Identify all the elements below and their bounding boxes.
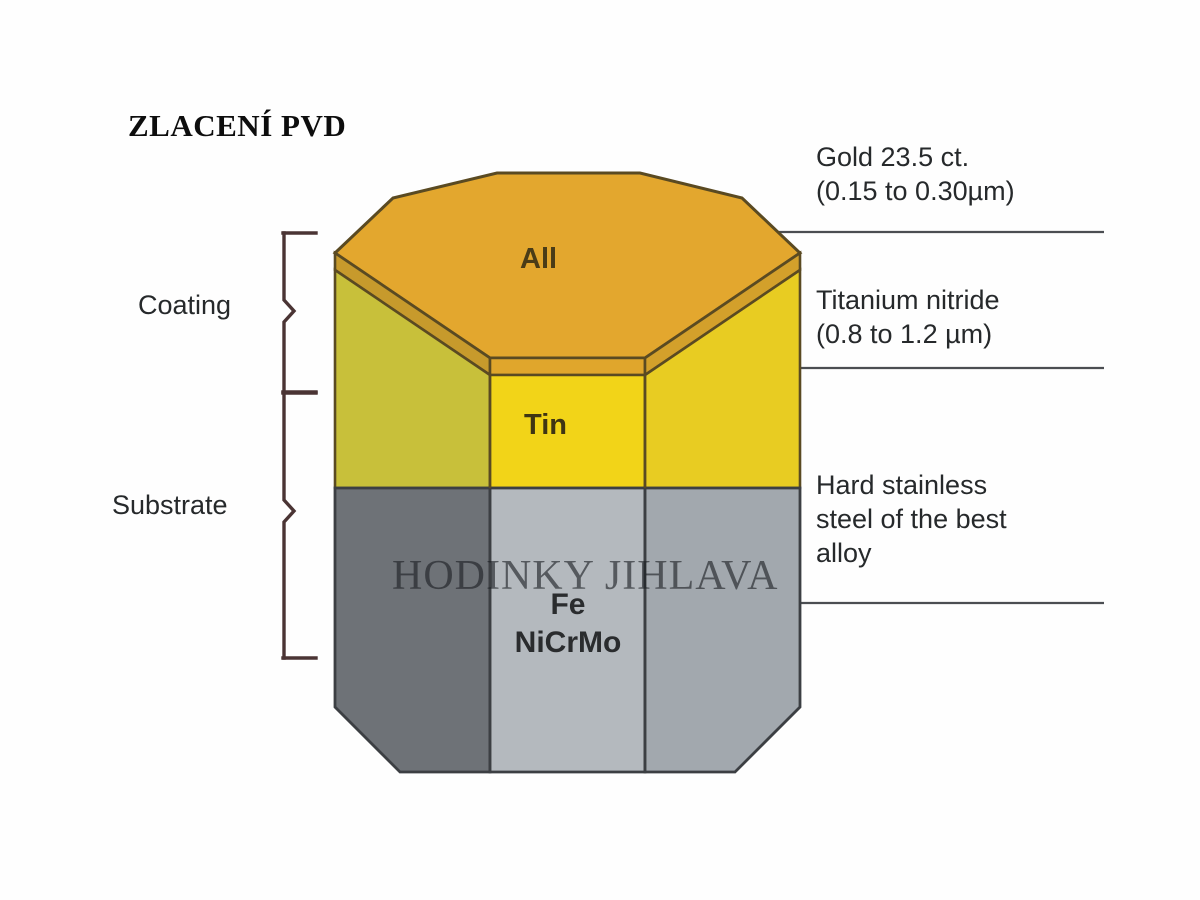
pvd-layer-block-illustration (0, 0, 1200, 900)
block-caption-substrate: Fe NiCrMo (490, 586, 646, 662)
steel-right-face (645, 488, 800, 772)
gold-band-front (490, 358, 645, 375)
block-caption-tin: Tin (524, 409, 567, 442)
diagram-canvas: ZLACENÍ PVD (0, 0, 1200, 900)
bracket-substrate-stem (284, 393, 294, 658)
bracket-label-substrate: Substrate (112, 490, 228, 521)
block-caption-gold: All (520, 243, 557, 276)
bracket-label-coating: Coating (138, 290, 231, 321)
callout-titanium-nitride: Titanium nitride (0.8 to 1.2 µm) (816, 283, 1000, 351)
layer-block (335, 173, 800, 772)
tin-front-face (490, 375, 645, 488)
bracket-coating-stem (284, 233, 294, 392)
bracket-coating (283, 233, 316, 392)
bracket-substrate (283, 393, 316, 658)
steel-left-face (335, 488, 490, 772)
callout-gold: Gold 23.5 ct. (0.15 to 0.30µm) (816, 140, 1015, 208)
callout-steel: Hard stainless steel of the best alloy (816, 468, 1007, 570)
